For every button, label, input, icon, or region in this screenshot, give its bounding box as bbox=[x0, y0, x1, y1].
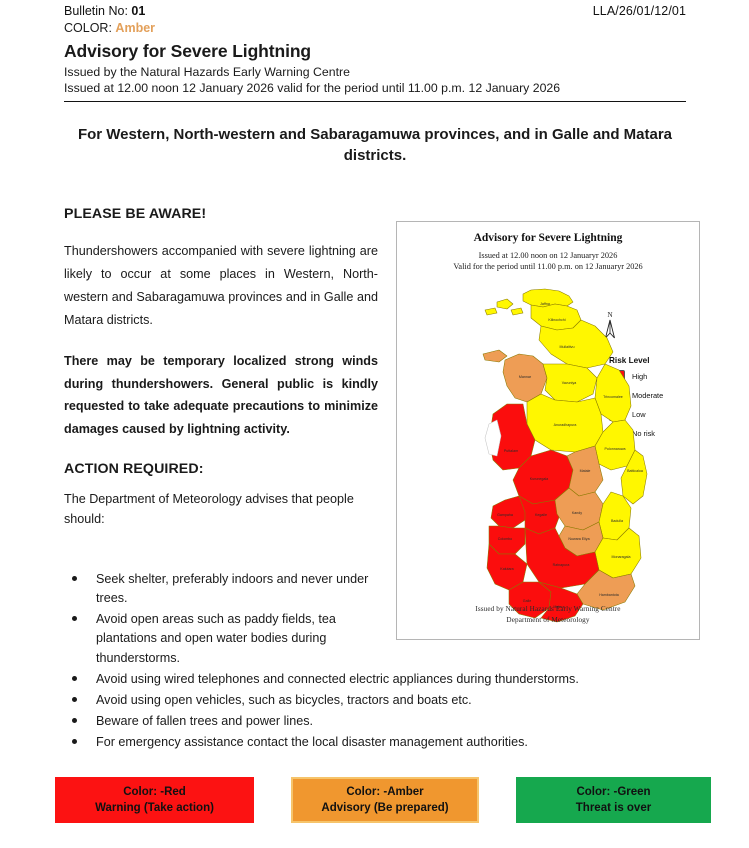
header-top-row: Bulletin No: 01 LLA/26/01/12/01 bbox=[64, 4, 686, 18]
list-item-text: Avoid using wired telephones and connect… bbox=[96, 672, 579, 686]
advisory-paragraph-1: Thundershowers accompanied with severe l… bbox=[64, 240, 378, 332]
district-label-mannar: Mannar bbox=[519, 375, 532, 379]
list-item: For emergency assistance contact the loc… bbox=[64, 733, 686, 752]
color-key-green-line2: Threat is over bbox=[576, 800, 651, 816]
list-item-text: For emergency assistance contact the loc… bbox=[96, 735, 528, 749]
district-label-badulla: Badulla bbox=[611, 519, 623, 523]
color-key-green: Color: -Green Threat is over bbox=[516, 777, 711, 823]
district-label-colombo: Colombo bbox=[498, 537, 512, 541]
district-label-ratnapura: Ratnapura bbox=[553, 563, 570, 567]
district-label-nuwara-eliya: Nuwara Eliya bbox=[568, 537, 589, 541]
district-label-monaragala: Monaragala bbox=[612, 555, 631, 559]
list-item: Seek shelter, preferably indoors and nev… bbox=[64, 570, 380, 608]
map-subtitle: Issued at 12.00 noon on 12 Januaryr 2026… bbox=[397, 250, 699, 272]
district-label-hambantota: Hambantota bbox=[599, 593, 619, 597]
color-label: COLOR: bbox=[64, 21, 112, 35]
scope-heading: For Western, North-western and Sabaragam… bbox=[64, 124, 686, 167]
validity-period: Issued at 12.00 noon 12 January 2026 val… bbox=[64, 81, 686, 95]
bullet-dot-icon bbox=[72, 676, 77, 681]
color-value: Amber bbox=[115, 21, 155, 35]
map-footer-line-1: Issued by Natural Hazards Early Warning … bbox=[397, 604, 699, 614]
district-label-mullaitivu: Mullaitivu bbox=[560, 345, 575, 349]
district-jaffna-islet-c bbox=[511, 308, 523, 315]
list-item: Avoid using wired telephones and connect… bbox=[64, 670, 686, 689]
bulletin-number: Bulletin No: 01 bbox=[64, 4, 145, 18]
district-label-anuradhapura: Anuradhapura bbox=[554, 423, 577, 427]
list-item: Avoid using open vehicles, such as bicyc… bbox=[64, 691, 686, 710]
district-label-gampaha: Gampaha bbox=[497, 513, 513, 517]
bullet-dot-icon bbox=[72, 697, 77, 702]
map-footer-line-2: Department of Meteorology bbox=[397, 615, 699, 625]
reference-code: LLA/26/01/12/01 bbox=[593, 4, 686, 18]
color-key-amber: Color: -Amber Advisory (Be prepared) bbox=[291, 777, 479, 823]
list-item: Beware of fallen trees and power lines. bbox=[64, 712, 686, 731]
left-content-column: PLEASE BE AWARE! Thundershowers accompan… bbox=[64, 206, 378, 530]
color-key-green-line1: Color: -Green bbox=[576, 784, 650, 800]
issuing-authority: Issued by the Natural Hazards Early Warn… bbox=[64, 65, 686, 79]
please-be-aware-heading: PLEASE BE AWARE! bbox=[64, 206, 378, 222]
list-item-text: Avoid using open vehicles, such as bicyc… bbox=[96, 693, 472, 707]
color-key-amber-line1: Color: -Amber bbox=[346, 784, 423, 800]
district-label-vavuniya: Vavuniya bbox=[562, 381, 577, 385]
district-label-kurunegala: Kurunegala bbox=[530, 477, 548, 481]
bullet-dot-icon bbox=[72, 739, 77, 744]
district-label-batticaloa: Batticaloa bbox=[627, 469, 643, 473]
district-label-kalutara: Kalutara bbox=[500, 567, 513, 571]
advisory-document: Bulletin No: 01 LLA/26/01/12/01 COLOR: A… bbox=[0, 0, 749, 848]
district-label-puttalam: Puttalam bbox=[504, 449, 518, 453]
district-label-kegalle: Kegalle bbox=[535, 513, 547, 517]
page-title: Advisory for Severe Lightning bbox=[64, 41, 686, 62]
district-label-galle: Galle bbox=[523, 599, 531, 603]
map-issued-line: Issued at 12.00 noon on 12 Januaryr 2026 bbox=[397, 250, 699, 261]
district-label-jaffna: Jaffna bbox=[540, 302, 550, 306]
district-label-trincomalee: Trincomalee bbox=[603, 395, 623, 399]
action-required-heading: ACTION REQUIRED: bbox=[64, 461, 378, 477]
risk-map-panel: Advisory for Severe Lightning Issued at … bbox=[396, 221, 700, 640]
bulletin-label: Bulletin No: bbox=[64, 4, 128, 18]
document-header: Bulletin No: 01 LLA/26/01/12/01 COLOR: A… bbox=[64, 4, 686, 102]
map-body: N Risk Level High Moderate bbox=[397, 274, 701, 594]
district-label-kandy: Kandy bbox=[572, 511, 582, 515]
district-jaffna-islet-b bbox=[485, 308, 497, 315]
district-label-kilinochchi: Kilinochchi bbox=[548, 318, 565, 322]
color-key-amber-line2: Advisory (Be prepared) bbox=[321, 800, 448, 816]
color-key-row: Color: -Red Warning (Take action) Color:… bbox=[0, 777, 749, 823]
bullet-dot-icon bbox=[72, 576, 77, 581]
bulletin-value: 01 bbox=[131, 4, 145, 18]
color-key-red: Color: -Red Warning (Take action) bbox=[55, 777, 254, 823]
list-item: Avoid open areas such as paddy fields, t… bbox=[64, 610, 380, 667]
action-lead-text: The Department of Meteorology advises th… bbox=[64, 489, 378, 529]
district-label-polonnaruwa: Polonnaruwa bbox=[605, 447, 626, 451]
map-title: Advisory for Severe Lightning bbox=[397, 232, 699, 244]
bullet-dot-icon bbox=[72, 718, 77, 723]
district-label-matale: Matale bbox=[580, 469, 591, 473]
list-item-text: Beware of fallen trees and power lines. bbox=[96, 714, 313, 728]
list-item-text: Avoid open areas such as paddy fields, t… bbox=[96, 612, 336, 664]
color-key-red-line1: Color: -Red bbox=[123, 784, 186, 800]
list-item-text: Seek shelter, preferably indoors and nev… bbox=[96, 572, 368, 605]
map-footer: Issued by Natural Hazards Early Warning … bbox=[397, 604, 699, 625]
advisory-paragraph-2: There may be temporary localized strong … bbox=[64, 350, 378, 442]
bullet-dot-icon bbox=[72, 616, 77, 621]
district-jaffna-islet-a bbox=[497, 299, 513, 309]
header-divider bbox=[64, 101, 686, 102]
color-key-red-line2: Warning (Take action) bbox=[95, 800, 214, 816]
color-line: COLOR: Amber bbox=[64, 21, 686, 35]
sri-lanka-risk-map: Jaffna Kilinochchi Mullaitivu Mannar Vav… bbox=[427, 274, 657, 624]
map-valid-line: Valid for the period until 11.00 p.m. on… bbox=[397, 261, 699, 272]
district-mannar-island bbox=[483, 350, 507, 362]
district-kilinochchi bbox=[531, 304, 581, 330]
